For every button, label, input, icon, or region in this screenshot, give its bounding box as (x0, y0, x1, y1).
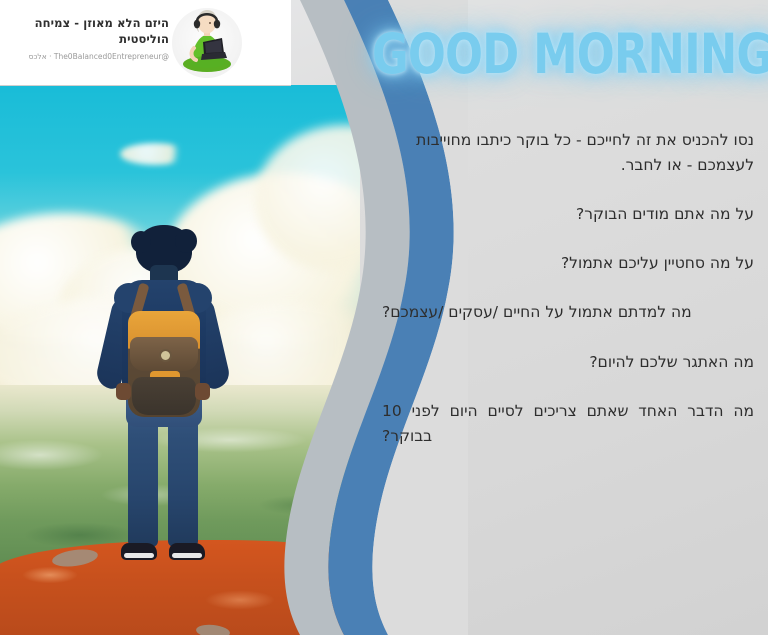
paragraph-question-3: מה למדתם אתמול על החיים /עסקים /עצמכם? (382, 300, 754, 325)
backpack-bottom (132, 377, 196, 415)
hand-right (195, 383, 210, 400)
paragraph-question-2: על מה סחטיין עליכם אתמול? (382, 251, 754, 276)
body-text-block: נסו להכניס את זה לחייכם - כל בוקר כיתבו … (382, 128, 754, 466)
avatar[interactable] (172, 8, 242, 78)
shoe-left (121, 543, 157, 560)
profile-header-card[interactable]: היזם הלא מאוזן - צמיחה הוליסטית @The0Bal… (0, 0, 291, 86)
brand-name: היזם הלא מאוזן - צמיחה הוליסטית (11, 16, 169, 47)
paragraph-question-4: מה האתגר שלכם להיום? (382, 350, 754, 375)
page-title: GOOD MORNING! (372, 22, 706, 88)
man-figure (88, 225, 238, 585)
woman-with-laptop-avatar-icon (172, 8, 242, 78)
paragraph-intro: נסו להכניס את זה לחייכם - כל בוקר כיתבו … (382, 128, 754, 178)
brand-handle: @The0Balanced0Entrepreneur · אלכס (11, 52, 169, 61)
poster-canvas: היזם הלא מאוזן - צמיחה הוליסטית @The0Bal… (0, 0, 768, 635)
backpack (128, 311, 200, 417)
shoe-right (169, 543, 205, 560)
profile-text-block: היזם הלא מאוזן - צמיחה הוליסטית @The0Bal… (11, 16, 169, 61)
hand-left (116, 383, 131, 400)
backpack-buckle (159, 349, 172, 362)
paragraph-question-5: מה הדבר האחד שאתם צריכים לסיים היום לפני… (382, 399, 754, 449)
cloud (120, 143, 190, 165)
paragraph-question-1: על מה אתם מודים הבוקר? (382, 202, 754, 227)
